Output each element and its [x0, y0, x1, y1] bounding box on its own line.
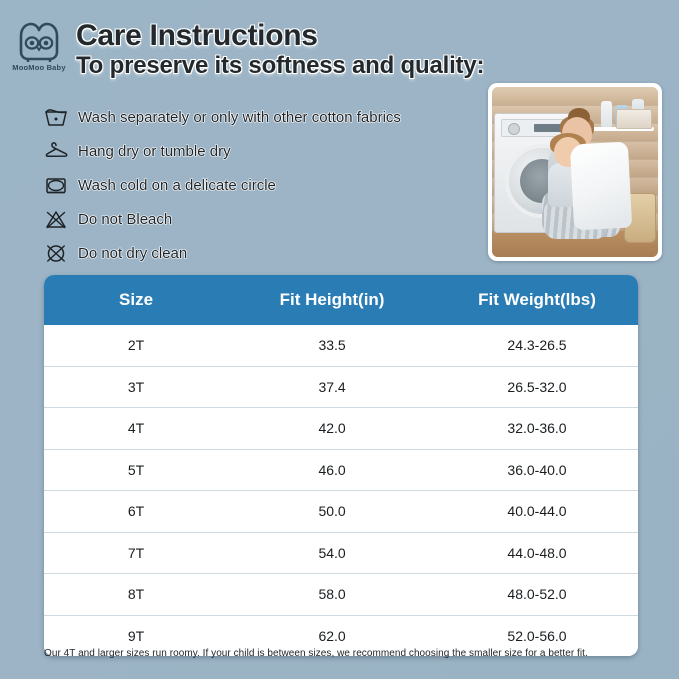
laundry-photo-frame: [488, 83, 662, 261]
cell-height: 54.0: [228, 532, 436, 574]
table-row: 2T 33.5 24.3-26.5: [44, 325, 638, 366]
table-row: 6T 50.0 40.0-44.0: [44, 491, 638, 533]
size-chart-table: Size Fit Height(in) Fit Weight(lbs) 2T 3…: [44, 275, 638, 656]
cell-size: 2T: [44, 325, 228, 366]
care-instruction-item: Do not dry clean: [44, 236, 494, 270]
column-header-weight: Fit Weight(lbs): [436, 275, 638, 325]
page-subtitle: To preserve its softness and quality:: [76, 53, 484, 80]
care-instruction-item: Do not Bleach: [44, 202, 494, 236]
tumble-dry-square-icon: [44, 172, 74, 198]
table-row: 8T 58.0 48.0-52.0: [44, 574, 638, 616]
cell-height: 42.0: [228, 408, 436, 450]
cell-size: 4T: [44, 408, 228, 450]
care-instruction-label: Do not Bleach: [78, 211, 172, 228]
cell-height: 37.4: [228, 366, 436, 408]
care-instruction-label: Do not dry clean: [78, 245, 187, 262]
cell-size: 5T: [44, 449, 228, 491]
brand-name: MooMoo Baby: [12, 63, 65, 72]
cell-weight: 26.5-32.0: [436, 366, 638, 408]
care-instruction-item: Wash separately or only with other cotto…: [44, 100, 494, 134]
care-instruction-label: Wash separately or only with other cotto…: [78, 109, 401, 126]
cell-size: 7T: [44, 532, 228, 574]
cell-height: 33.5: [228, 325, 436, 366]
cell-weight: 36.0-40.0: [436, 449, 638, 491]
column-header-height: Fit Height(in): [228, 275, 436, 325]
do-not-bleach-triangle-icon: [44, 206, 74, 232]
cell-height: 50.0: [228, 491, 436, 533]
cell-weight: 32.0-36.0: [436, 408, 638, 450]
cell-weight: 44.0-48.0: [436, 532, 638, 574]
title-block: Care Instructions To preserve its softne…: [76, 20, 484, 80]
table-row: 7T 54.0 44.0-48.0: [44, 532, 638, 574]
care-instruction-list: Wash separately or only with other cotto…: [44, 100, 494, 270]
table-row: 3T 37.4 26.5-32.0: [44, 366, 638, 408]
care-instruction-item: Wash cold on a delicate circle: [44, 168, 494, 202]
cell-height: 46.0: [228, 449, 436, 491]
cell-weight: 40.0-44.0: [436, 491, 638, 533]
page-title: Care Instructions: [76, 20, 484, 52]
table-row: 5T 46.0 36.0-40.0: [44, 449, 638, 491]
table-row: 4T 42.0 32.0-36.0: [44, 408, 638, 450]
care-instruction-label: Wash cold on a delicate circle: [78, 177, 276, 194]
laundry-photo: [492, 87, 658, 257]
wash-tub-icon: [44, 104, 74, 130]
cell-size: 3T: [44, 366, 228, 408]
cell-weight: 48.0-52.0: [436, 574, 638, 616]
cell-weight: 24.3-26.5: [436, 325, 638, 366]
column-header-size: Size: [44, 275, 228, 325]
table-header-row: Size Fit Height(in) Fit Weight(lbs): [44, 275, 638, 325]
owl-face-icon: [16, 22, 62, 62]
cell-height: 58.0: [228, 574, 436, 616]
sizing-footnote: Our 4T and larger sizes run roomy. If yo…: [44, 648, 644, 659]
cell-size: 8T: [44, 574, 228, 616]
care-instruction-label: Hang dry or tumble dry: [78, 143, 231, 160]
do-not-dry-clean-circle-icon: [44, 240, 74, 266]
cell-size: 6T: [44, 491, 228, 533]
header: MooMoo Baby Care Instructions To preserv…: [0, 0, 679, 90]
hanger-icon: [44, 138, 74, 164]
brand-logo: MooMoo Baby: [8, 22, 70, 78]
care-instruction-item: Hang dry or tumble dry: [44, 134, 494, 168]
